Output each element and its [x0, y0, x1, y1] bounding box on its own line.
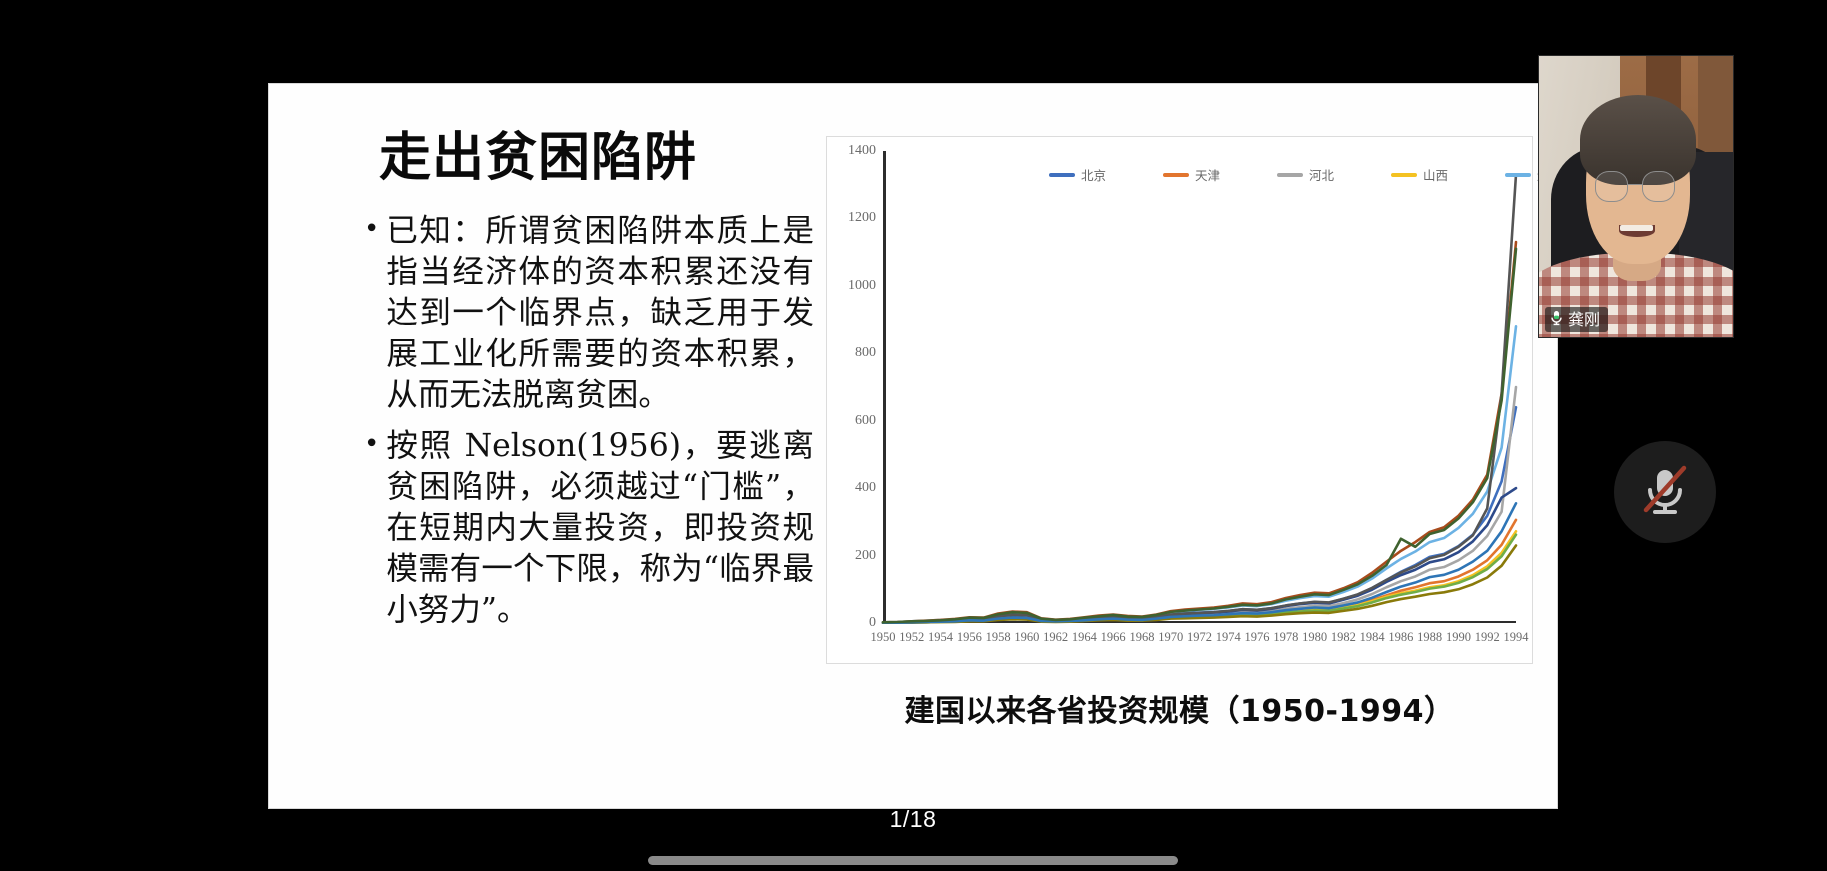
y-tick-label: 0 — [869, 615, 876, 631]
eyeglasses-bridge — [1628, 184, 1642, 186]
meeting-screen: 走出贫困陷阱 • 已知：所谓贫困陷阱本质上是指当经济体的资本积累还没有达到一个临… — [0, 0, 1827, 871]
bullet-marker-icon: • — [364, 426, 379, 464]
legend-label: 河北 — [1309, 165, 1334, 184]
y-tick-label: 800 — [855, 345, 876, 361]
person-hair — [1580, 95, 1696, 185]
legend-label: 山西 — [1423, 165, 1448, 184]
eyeglasses-icon — [1642, 171, 1675, 202]
legend-item-山西[interactable]: 山西 — [1391, 165, 1499, 184]
chart-plot-area: 0200400600800100012001400 19501952195419… — [883, 151, 1516, 623]
slide-text-column: 走出贫困陷阱 • 已知：所谓贫困陷阱本质上是指当经济体的资本积累还没有达到一个临… — [364, 129, 814, 789]
chart-caption: 建国以来各省投资规模（1950-1994） — [826, 686, 1533, 730]
x-tick-label: 1990 — [1446, 630, 1471, 645]
x-tick-label: 1962 — [1043, 630, 1068, 645]
x-tick-label: 1976 — [1245, 630, 1270, 645]
y-tick-label: 1000 — [848, 278, 876, 294]
y-tick-label: 400 — [855, 480, 876, 496]
bullet-item-1: • 已知：所谓贫困陷阱本质上是指当经济体的资本积累还没有达到一个临界点，缺乏用于… — [364, 211, 814, 416]
y-tick-label: 1400 — [848, 143, 876, 159]
x-tick-label: 1950 — [871, 630, 896, 645]
x-tick-label: 1980 — [1302, 630, 1327, 645]
x-tick-label: 1994 — [1504, 630, 1529, 645]
x-tick-label: 1964 — [1072, 630, 1097, 645]
x-tick-label: 1974 — [1216, 630, 1241, 645]
shared-slide: 走出贫困陷阱 • 已知：所谓贫困陷阱本质上是指当经济体的资本积累还没有达到一个临… — [268, 83, 1558, 809]
participant-name-badge: 龚刚 — [1545, 307, 1608, 332]
legend-color-swatch — [1163, 173, 1189, 177]
slide-page-indicator: 1/18 — [890, 806, 937, 833]
eyeglasses-icon — [1595, 171, 1628, 202]
bullet-text: 已知：所谓贫困陷阱本质上是指当经济体的资本积累还没有达到一个临界点，缺乏用于发展… — [386, 211, 814, 416]
bullet-item-2: • 按照 Nelson(1956)，要逃离贫困陷阱，必须越过“门槛”，在短期内大… — [364, 426, 814, 631]
chart-line-黑龙江 — [883, 488, 1516, 623]
chart-figure: 0200400600800100012001400 19501952195419… — [826, 136, 1533, 726]
x-tick-label: 1954 — [928, 630, 953, 645]
x-tick-label: 1984 — [1360, 630, 1385, 645]
x-tick-label: 1968 — [1129, 630, 1154, 645]
x-tick-label: 1960 — [1014, 630, 1039, 645]
legend-item-北京[interactable]: 北京 — [1049, 165, 1157, 184]
legend-color-swatch — [1277, 173, 1303, 177]
x-tick-label: 1986 — [1388, 630, 1413, 645]
legend-color-swatch — [1049, 173, 1075, 177]
legend-item-天津[interactable]: 天津 — [1163, 165, 1271, 184]
bullet-marker-icon: • — [364, 211, 379, 249]
legend-color-swatch — [1505, 173, 1531, 177]
x-tick-label: 1958 — [986, 630, 1011, 645]
legend-label: 天津 — [1195, 165, 1220, 184]
x-tick-label: 1972 — [1187, 630, 1212, 645]
person-teeth — [1620, 225, 1653, 231]
y-tick-label: 200 — [855, 548, 876, 564]
chart-line-辽宁 — [883, 326, 1516, 622]
x-tick-label: 1982 — [1331, 630, 1356, 645]
x-tick-label: 1966 — [1101, 630, 1126, 645]
x-tick-label: 1952 — [899, 630, 924, 645]
x-tick-label: 1992 — [1475, 630, 1500, 645]
chart-series-paths — [883, 151, 1516, 623]
chart-line-上海 — [883, 242, 1516, 622]
x-tick-label: 1970 — [1158, 630, 1183, 645]
x-tick-label: 1988 — [1417, 630, 1442, 645]
legend-color-swatch — [1391, 173, 1417, 177]
microphone-muted-icon — [1639, 462, 1691, 523]
page-title: 走出贫困陷阱 — [379, 129, 814, 187]
x-tick-label: 1978 — [1273, 630, 1298, 645]
line-chart: 0200400600800100012001400 19501952195419… — [826, 136, 1533, 664]
mute-toggle-button[interactable] — [1614, 441, 1716, 543]
y-tick-label: 1200 — [848, 210, 876, 226]
legend-item-河北[interactable]: 河北 — [1277, 165, 1385, 184]
home-indicator-bar[interactable] — [648, 856, 1178, 865]
chart-legend: 北京天津河北山西辽宁吉林黑龙江上海江苏江西安徽山东 — [1049, 165, 1558, 184]
participant-video-tile[interactable]: 龚刚 — [1538, 55, 1734, 338]
chart-line-河北 — [883, 387, 1516, 623]
x-tick-label: 1956 — [957, 630, 982, 645]
microphone-icon — [1549, 309, 1564, 331]
bullet-text: 按照 Nelson(1956)，要逃离贫困陷阱，必须越过“门槛”，在短期内大量投… — [386, 426, 814, 631]
legend-label: 北京 — [1081, 165, 1106, 184]
y-tick-label: 600 — [855, 413, 876, 429]
chart-line-江苏 — [883, 175, 1516, 623]
participant-name: 龚刚 — [1568, 312, 1600, 328]
